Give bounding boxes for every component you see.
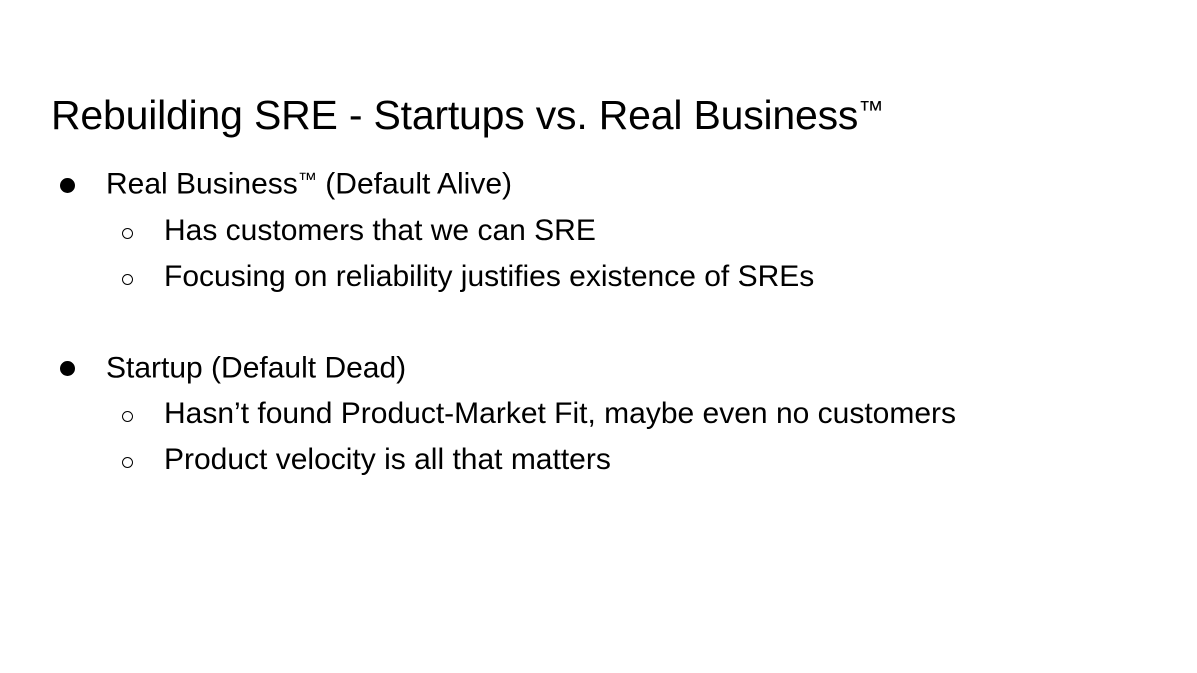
sub-bullet-item-label: Product velocity is all that matters: [164, 438, 611, 481]
hollow-circle-bullet-icon: [122, 212, 164, 255]
sub-bullet-item-focusing-reliability: Focusing on reliability justifies existe…: [0, 255, 1197, 301]
filled-disc-bullet-icon: [60, 349, 106, 392]
hollow-circle-bullet-icon: [122, 258, 164, 301]
sub-bullet-item-label: Focusing on reliability justifies existe…: [164, 255, 814, 298]
bullet-item-real-business: Real Business™ (Default Alive): [0, 159, 1197, 209]
hollow-circle-bullet-icon: [122, 395, 164, 438]
bullet-text-tail: (Default Alive): [317, 168, 512, 201]
slide-title: Rebuilding SRE - Startups vs. Real Busin…: [51, 91, 884, 139]
trademark-symbol: ™: [298, 170, 317, 191]
sub-bullet-item-no-pmf: Hasn’t found Product-Market Fit, maybe e…: [0, 392, 1197, 438]
bullet-item-startup: Startup (Default Dead): [0, 343, 1197, 393]
bullet-group-startup: Startup (Default Dead) Hasn’t found Prod…: [0, 343, 1197, 485]
bullet-group-real-business: Real Business™ (Default Alive) Has custo…: [0, 159, 1197, 301]
bullet-item-label: Startup (Default Dead): [106, 343, 406, 390]
trademark-symbol: ™: [858, 97, 883, 125]
sub-bullet-item-has-customers: Has customers that we can SRE: [0, 209, 1197, 255]
slide-body: Real Business™ (Default Alive) Has custo…: [0, 159, 1197, 484]
bullet-text-main: Startup (Default Dead): [106, 351, 406, 384]
slide-canvas: Rebuilding SRE - Startups vs. Real Busin…: [0, 0, 1197, 673]
filled-disc-bullet-icon: [60, 166, 106, 209]
hollow-circle-bullet-icon: [122, 441, 164, 484]
sub-bullet-item-product-velocity: Product velocity is all that matters: [0, 438, 1197, 484]
bullet-item-label: Real Business™ (Default Alive): [106, 159, 512, 206]
sub-bullet-item-label: Has customers that we can SRE: [164, 209, 596, 252]
bullet-text-main: Real Business: [106, 168, 298, 201]
sub-bullet-item-label: Hasn’t found Product-Market Fit, maybe e…: [164, 392, 956, 435]
slide-title-text: Rebuilding SRE - Startups vs. Real Busin…: [51, 92, 858, 138]
